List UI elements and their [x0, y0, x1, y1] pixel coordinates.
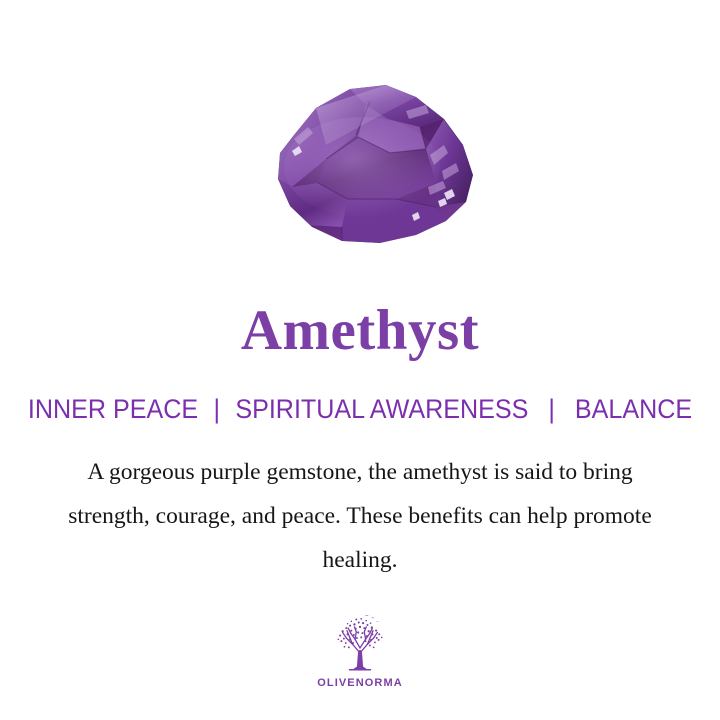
keyword-spiritual-awareness: SPIRITUAL AWARENESS: [235, 394, 528, 424]
gemstone-image-container: [0, 60, 720, 275]
keyword-separator-1: |: [205, 392, 228, 426]
amethyst-crystal-photo: [230, 75, 490, 260]
tree-logo: [329, 612, 391, 674]
keyword-line: INNER PEACE | SPIRITUAL AWARENESS | BALA…: [25, 392, 695, 426]
amethyst-info-card: Amethyst INNER PEACE | SPIRITUAL AWARENE…: [0, 0, 720, 720]
tree-trunk: [349, 650, 371, 670]
tree-birds: [365, 615, 379, 622]
page-title: Amethyst: [0, 300, 720, 362]
keyword-balance: BALANCE: [575, 394, 692, 424]
keyword-inner-peace: INNER PEACE: [28, 394, 198, 424]
brand-wordmark: OLIVENORMA: [317, 677, 403, 689]
description-text: A gorgeous purple gemstone, the amethyst…: [45, 450, 675, 582]
brand-block: OLIVENORMA: [0, 612, 720, 689]
keyword-separator-2: |: [535, 392, 568, 426]
tree-canopy-leaves: [337, 618, 382, 648]
